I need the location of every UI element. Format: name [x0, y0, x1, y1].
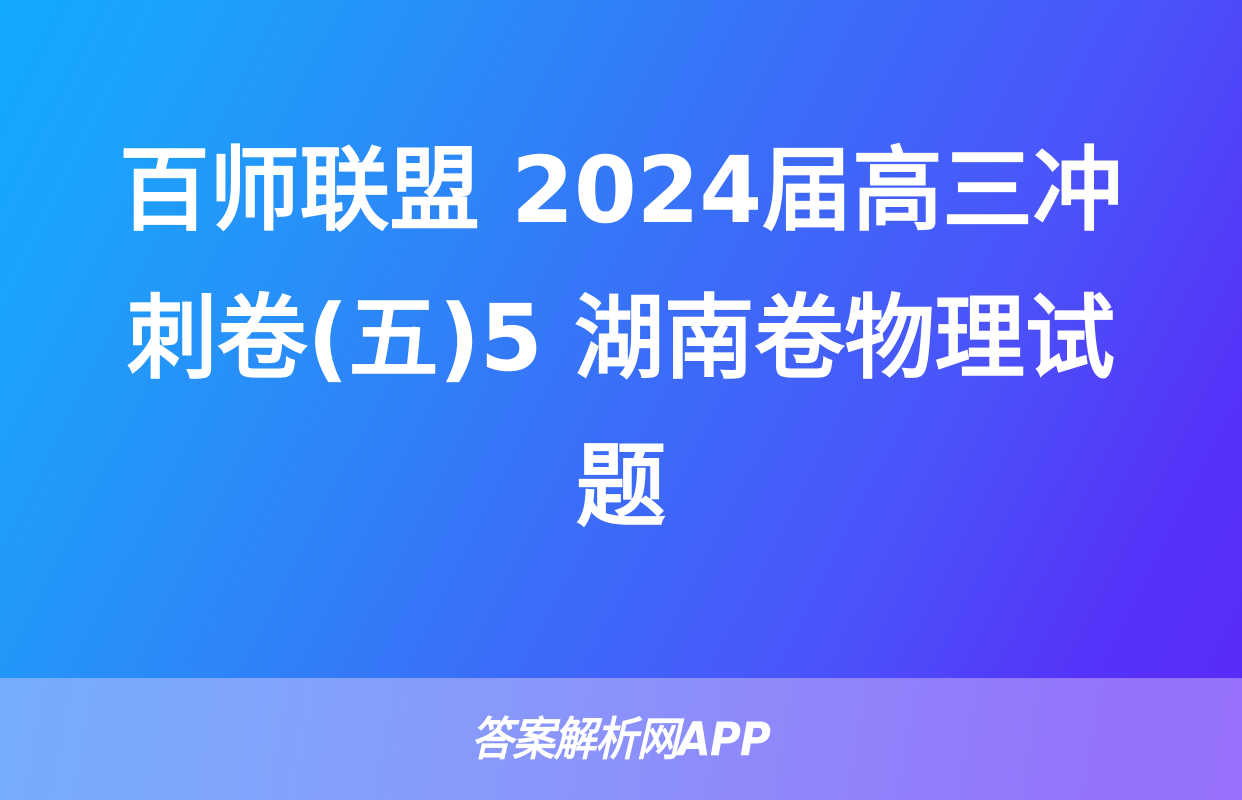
exam-title-card: 百师联盟 2024届高三冲刺卷(五)5 湖南卷物理试题 答案解析网APP — [0, 0, 1242, 800]
app-watermark-band: 答案解析网APP — [0, 678, 1242, 800]
hero-gradient-banner: 百师联盟 2024届高三冲刺卷(五)5 湖南卷物理试题 — [0, 0, 1242, 678]
app-watermark-text: 答案解析网APP — [471, 713, 770, 765]
exam-paper-title: 百师联盟 2024届高三冲刺卷(五)5 湖南卷物理试题 — [87, 117, 1155, 561]
